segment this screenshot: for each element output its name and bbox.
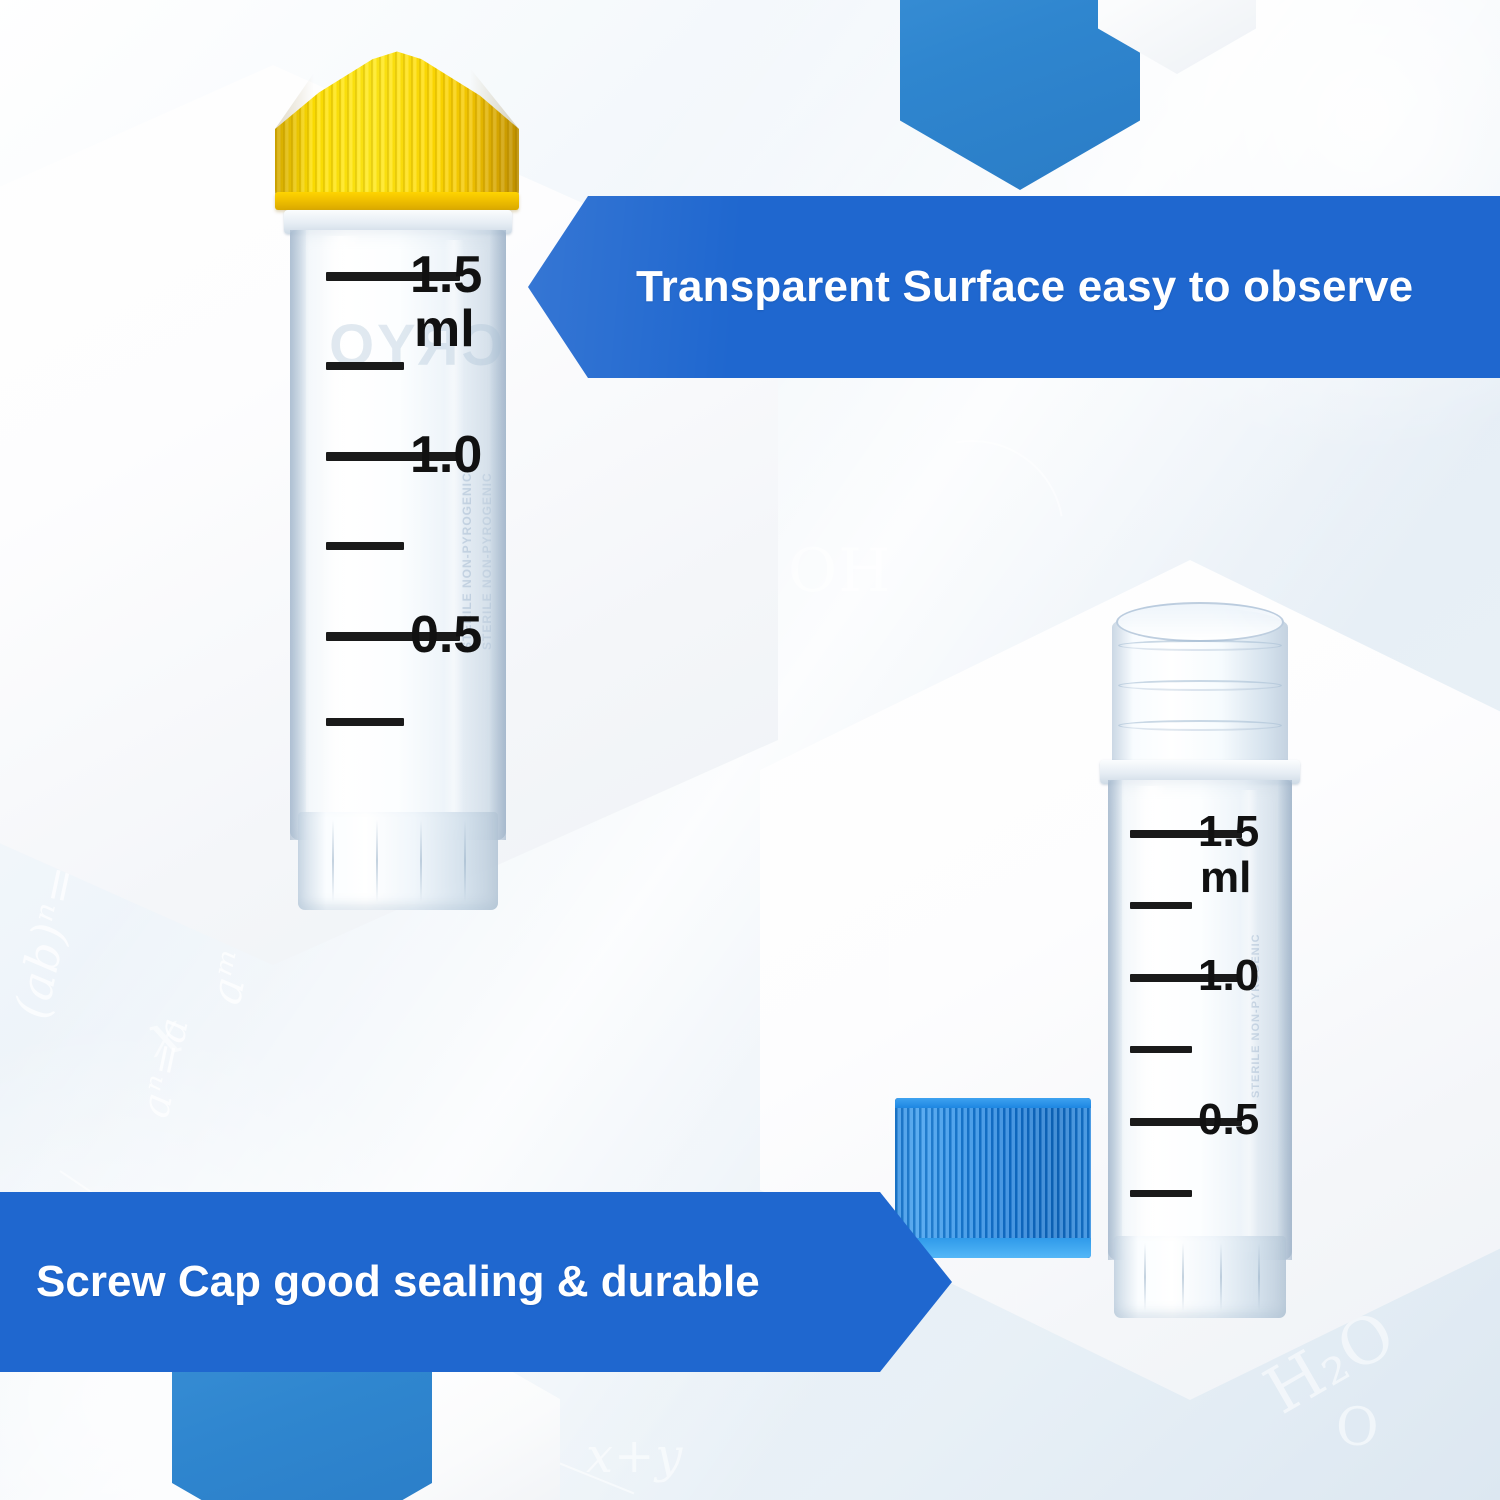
cap-blue-ribbing (895, 1098, 1091, 1258)
banner-transparent-surface[interactable]: Transparent Surface easy to observe (528, 196, 1500, 378)
watermark-chem-o: O (1336, 1398, 1380, 1458)
graduation-label: 1.0 (410, 430, 482, 481)
cap-blue-detached (895, 1098, 1091, 1258)
banner-bottom-text: Screw Cap good sealing & durable (36, 1257, 760, 1307)
graduation-label: 1.5 (410, 250, 482, 301)
base-rib (1144, 1243, 1146, 1312)
product-graphic-canvas: (ab)ⁿ=aⁿ aᵐ⁺ⁿ aⁿ=a x x+y OH H₂O O N (0, 0, 1500, 1500)
neck-thread (1118, 640, 1282, 651)
product-tube-open: STERILE NON-PYROGENIC 1.5 ml 1.0 0.5 (1090, 608, 1310, 1318)
tube-base-skirt (1114, 1236, 1286, 1318)
cap-yellow (275, 50, 519, 202)
graduation-minor (1130, 902, 1192, 909)
neck-rim (1116, 602, 1284, 642)
graduation-unit: ml (414, 304, 475, 355)
neck-thread (1118, 720, 1282, 731)
cap-blue-top-edge (895, 1098, 1091, 1108)
cap-shadow-right (470, 50, 519, 202)
watermark-expression: x+y (586, 1428, 683, 1484)
tube-base-skirt (298, 812, 498, 910)
banner-screw-cap[interactable]: Screw Cap good sealing & durable (0, 1192, 952, 1372)
banner-top-text: Transparent Surface easy to observe (636, 262, 1413, 312)
graduation-minor (326, 362, 404, 370)
tube-neck-threaded (1112, 608, 1288, 768)
base-rib (464, 820, 466, 902)
neck-thread (1118, 680, 1282, 691)
graduation-label: 0.5 (410, 610, 482, 661)
base-rib (1220, 1243, 1222, 1312)
base-rib (376, 820, 378, 902)
graduation-unit: ml (1200, 856, 1251, 899)
graduation-minor (1130, 1190, 1192, 1197)
graduation-minor (326, 542, 404, 550)
graduation-minor (1130, 1046, 1192, 1053)
base-rib (332, 820, 334, 902)
graduation-minor (326, 718, 404, 726)
graduation-label: 1.5 (1198, 810, 1259, 853)
graduation-label: 1.0 (1198, 954, 1259, 997)
watermark-chem-oh: OH (788, 536, 892, 606)
product-tube-capped: STERILE NON-PYROGENIC STERILE NON-PYROGE… (268, 50, 528, 910)
cap-base-ring (275, 192, 519, 210)
graduation-label: 0.5 (1198, 1098, 1259, 1141)
cap-shadow-left (275, 50, 314, 202)
base-rib (420, 820, 422, 902)
base-rib (1182, 1243, 1184, 1312)
base-rib (1258, 1243, 1260, 1312)
